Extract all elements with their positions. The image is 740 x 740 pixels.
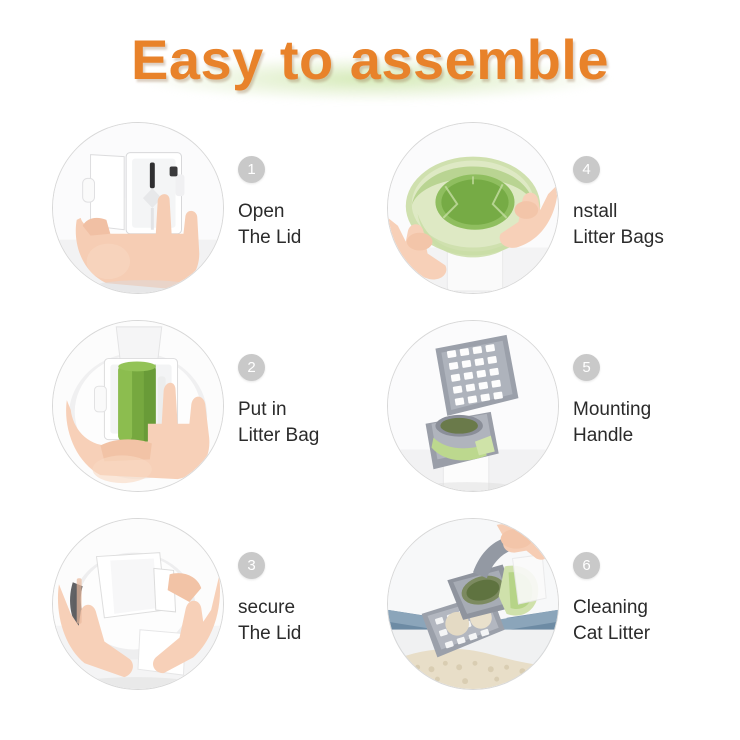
step-6-photo <box>387 518 559 690</box>
hand-inserting-green-bag-roll-illustration <box>53 321 223 491</box>
step-2-photo <box>52 320 224 492</box>
steps-grid: 1 Open The Lid <box>0 122 740 722</box>
step-5-caption: 5 Mounting Handle <box>573 354 723 449</box>
step-2-caption: 2 Put in Litter Bag <box>238 354 388 449</box>
step-3: 3 secure The Lid <box>44 518 384 714</box>
step-2: 2 Put in Litter Bag <box>44 320 384 516</box>
step-6-caption: 6 Cleaning Cat Litter <box>573 552 723 647</box>
step-3-label: secure The Lid <box>238 595 388 647</box>
step-6: 6 Cleaning Cat Litter <box>379 518 719 714</box>
step-1-photo <box>52 122 224 294</box>
step-4-label: nstall Litter Bags <box>573 199 723 251</box>
header: Easy to assemble <box>0 22 740 102</box>
step-4-number: 4 <box>573 156 600 183</box>
step-4-caption: 4 nstall Litter Bags <box>573 156 723 251</box>
step-4-photo <box>387 122 559 294</box>
step-3-photo <box>52 518 224 690</box>
step-5: 5 Mounting Handle <box>379 320 719 516</box>
step-5-number: 5 <box>573 354 600 381</box>
scoop-sifting-litter-in-blue-box-illustration <box>388 519 558 689</box>
hands-stretching-green-bag-illustration <box>388 123 558 293</box>
step-1-label: Open The Lid <box>238 199 388 251</box>
page-title: Easy to assemble <box>131 22 609 98</box>
step-5-label: Mounting Handle <box>573 397 723 449</box>
step-2-label: Put in Litter Bag <box>238 397 388 449</box>
step-1: 1 Open The Lid <box>44 122 384 318</box>
step-1-caption: 1 Open The Lid <box>238 156 388 251</box>
gray-slotted-scoop-on-handle-illustration <box>388 321 558 491</box>
step-3-caption: 3 secure The Lid <box>238 552 388 647</box>
step-6-label: Cleaning Cat Litter <box>573 595 723 647</box>
step-5-photo <box>387 320 559 492</box>
step-2-number: 2 <box>238 354 265 381</box>
hand-holding-open-lid-scoop-illustration <box>53 123 223 293</box>
hands-closing-white-lid-illustration <box>53 519 223 689</box>
step-6-number: 6 <box>573 552 600 579</box>
step-1-number: 1 <box>238 156 265 183</box>
step-3-number: 3 <box>238 552 265 579</box>
step-4: 4 nstall Litter Bags <box>379 122 719 318</box>
